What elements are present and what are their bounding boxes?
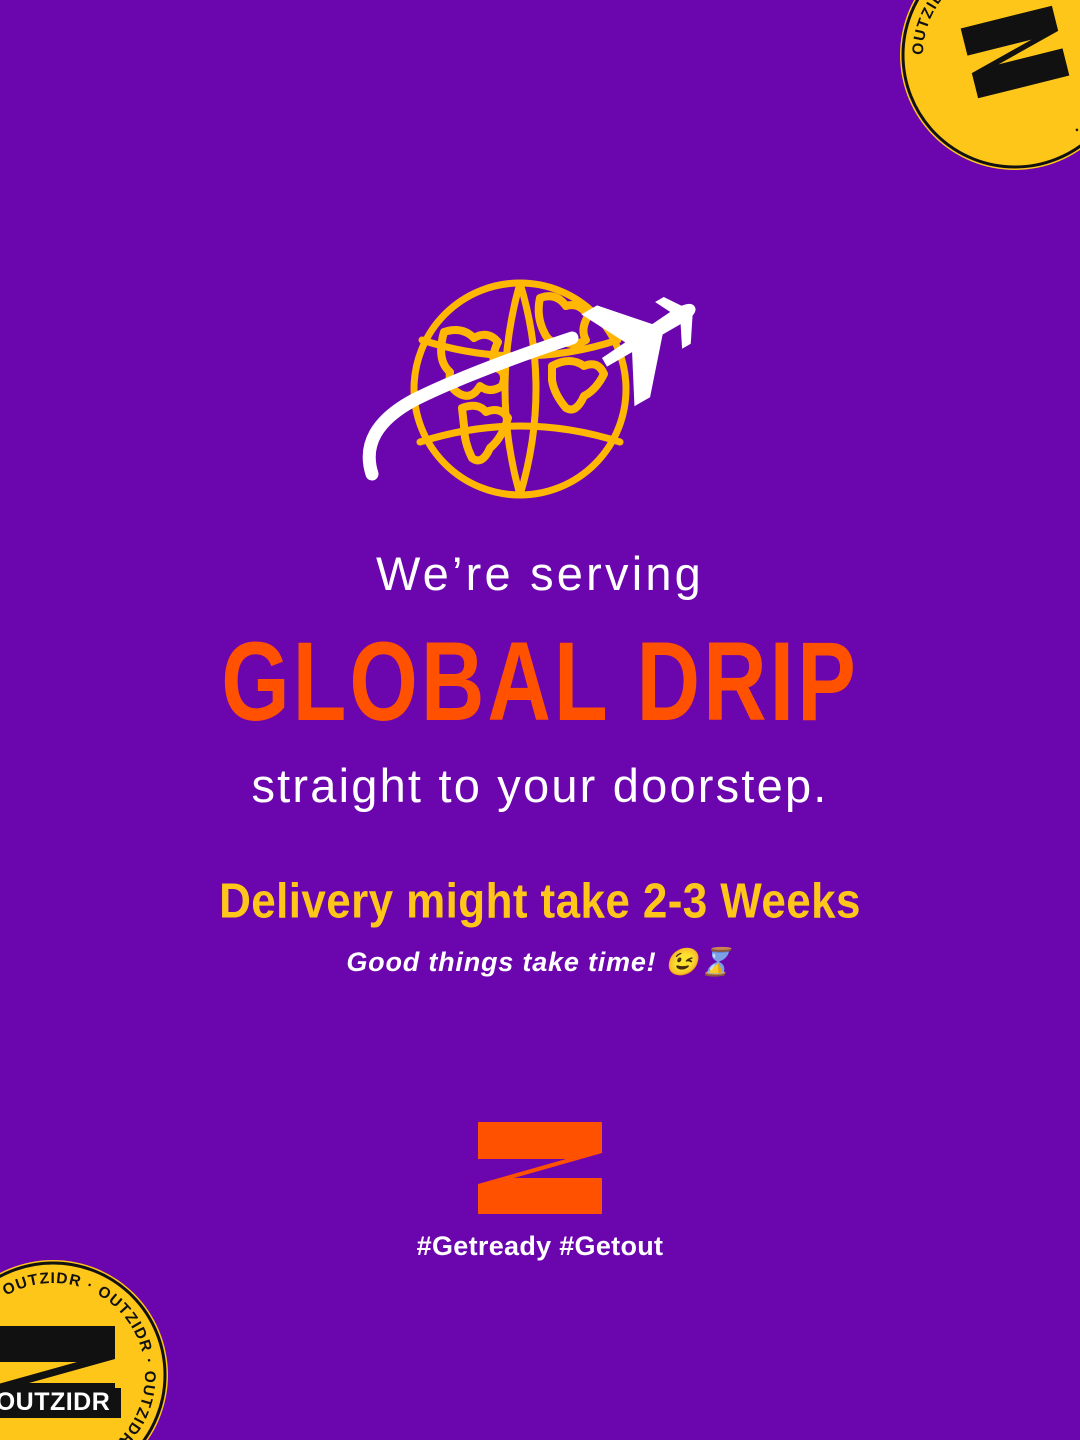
footer-block: #Getready #Getout xyxy=(0,1122,1080,1262)
z-logo-shape xyxy=(478,1122,602,1214)
reassurance-text: Good things take time! 😉⌛ xyxy=(0,946,1080,978)
eyebrow-text: We’re serving xyxy=(0,548,1080,601)
copy-block: We’re serving GLOBAL DRIP straight to yo… xyxy=(0,548,1080,978)
page-title: GLOBAL DRIP xyxy=(0,615,1080,748)
promo-poster: OUTZIDR · OUTZIDR · OUTZIDR · OUTZIDR · … xyxy=(0,0,1080,1440)
brand-badge-top-right: OUTZIDR · OUTZIDR · OUTZIDR · OUTZIDR · xyxy=(900,0,1080,170)
subline-text: straight to your doorstep. xyxy=(0,760,1080,812)
globe-with-airplane-icon xyxy=(340,262,740,512)
hashtags-text: #Getready #Getout xyxy=(0,1231,1080,1262)
brand-badge-bottom-left: OUTZIDR · OUTZIDR · OUTZIDR · OUTZIDR · … xyxy=(0,1260,168,1440)
delivery-notice: Delivery might take 2-3 Weeks xyxy=(0,874,1080,930)
z-logo-icon xyxy=(478,1122,602,1214)
badge-wordmark: OUTZIDR xyxy=(0,1388,110,1416)
